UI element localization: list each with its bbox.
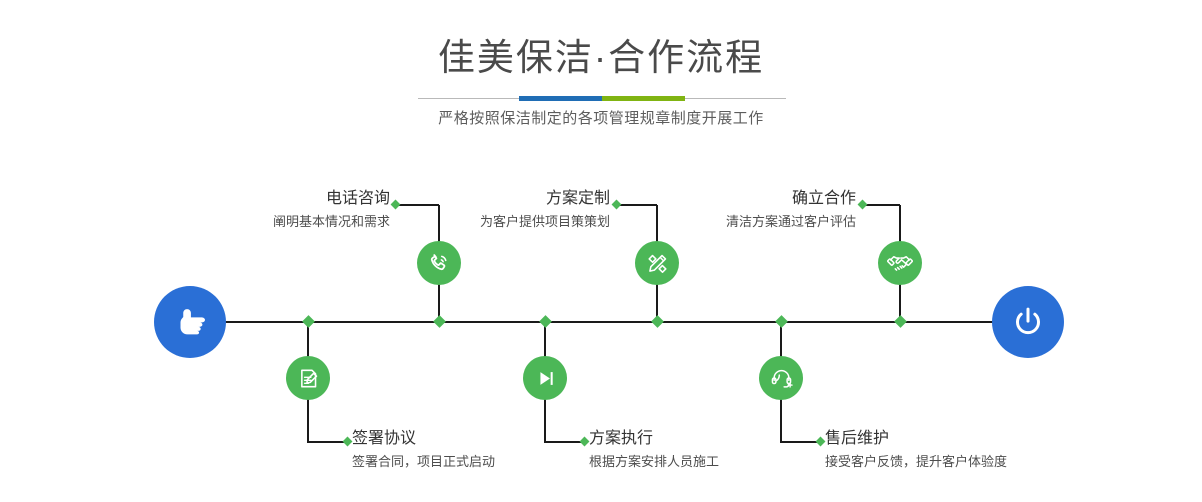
label-marker-step-2	[343, 437, 353, 447]
step-icon-plan-execution[interactable]	[523, 356, 567, 400]
process-flow-diagram: 电话咨询 阐明基本情况和需求 签署协议 签署合同，项目正式启动	[0, 0, 1202, 502]
step-title: 方案定制	[380, 188, 610, 210]
flow-end-node[interactable]	[992, 286, 1064, 358]
step-desc: 清洁方案通过客户评估	[626, 211, 856, 233]
step-desc: 根据方案安排人员施工	[589, 451, 829, 473]
step-icon-after-sales[interactable]	[759, 356, 803, 400]
power-button-icon	[1008, 302, 1048, 342]
axis-marker-step-1	[433, 315, 446, 328]
step-title: 方案执行	[589, 428, 829, 450]
connector-horizontal-step-2	[307, 441, 347, 443]
step-title: 确立合作	[626, 188, 856, 210]
step-icon-establish-cooperation[interactable]	[878, 241, 922, 285]
step-desc: 为客户提供项目策策划	[380, 211, 610, 233]
axis-marker-step-4	[539, 315, 552, 328]
play-forward-icon	[533, 366, 558, 391]
step-icon-phone-call[interactable]	[417, 241, 461, 285]
step-label-3: 方案定制 为客户提供项目策策划	[380, 188, 610, 233]
axis-marker-step-3	[651, 315, 664, 328]
phone-call-icon	[426, 250, 452, 276]
step-label-2: 签署协议 签署合同，项目正式启动	[352, 428, 592, 473]
headset-support-icon	[769, 366, 794, 391]
connector-horizontal-step-5	[863, 204, 900, 206]
step-desc: 签署合同，项目正式启动	[352, 451, 592, 473]
step-label-5: 确立合作 清洁方案通过客户评估	[626, 188, 856, 233]
label-marker-step-3	[612, 200, 622, 210]
step-desc: 阐明基本情况和需求	[160, 211, 390, 233]
handshake-icon	[887, 250, 913, 276]
step-title: 售后维护	[825, 428, 1085, 450]
label-marker-step-5	[858, 200, 868, 210]
flow-chart-page: 佳美保洁·合作流程 严格按照保洁制定的各项管理规章制度开展工作	[0, 0, 1202, 502]
step-title: 签署协议	[352, 428, 592, 450]
pointing-hand-icon	[170, 302, 210, 342]
step-icon-sign-agreement[interactable]	[286, 356, 330, 400]
step-icon-plan-customization[interactable]	[635, 241, 679, 285]
step-title: 电话咨询	[160, 188, 390, 210]
step-label-6: 售后维护 接受客户反馈，提升客户体验度	[825, 428, 1085, 473]
step-label-1: 电话咨询 阐明基本情况和需求	[160, 188, 390, 233]
flow-start-node[interactable]	[154, 286, 226, 358]
step-desc: 接受客户反馈，提升客户体验度	[825, 451, 1085, 473]
axis-marker-step-5	[894, 315, 907, 328]
axis-marker-step-2	[302, 315, 315, 328]
axis-marker-step-6	[775, 315, 788, 328]
document-pencil-icon	[296, 366, 321, 391]
step-label-4: 方案执行 根据方案安排人员施工	[589, 428, 829, 473]
pencil-ruler-icon	[645, 251, 670, 276]
